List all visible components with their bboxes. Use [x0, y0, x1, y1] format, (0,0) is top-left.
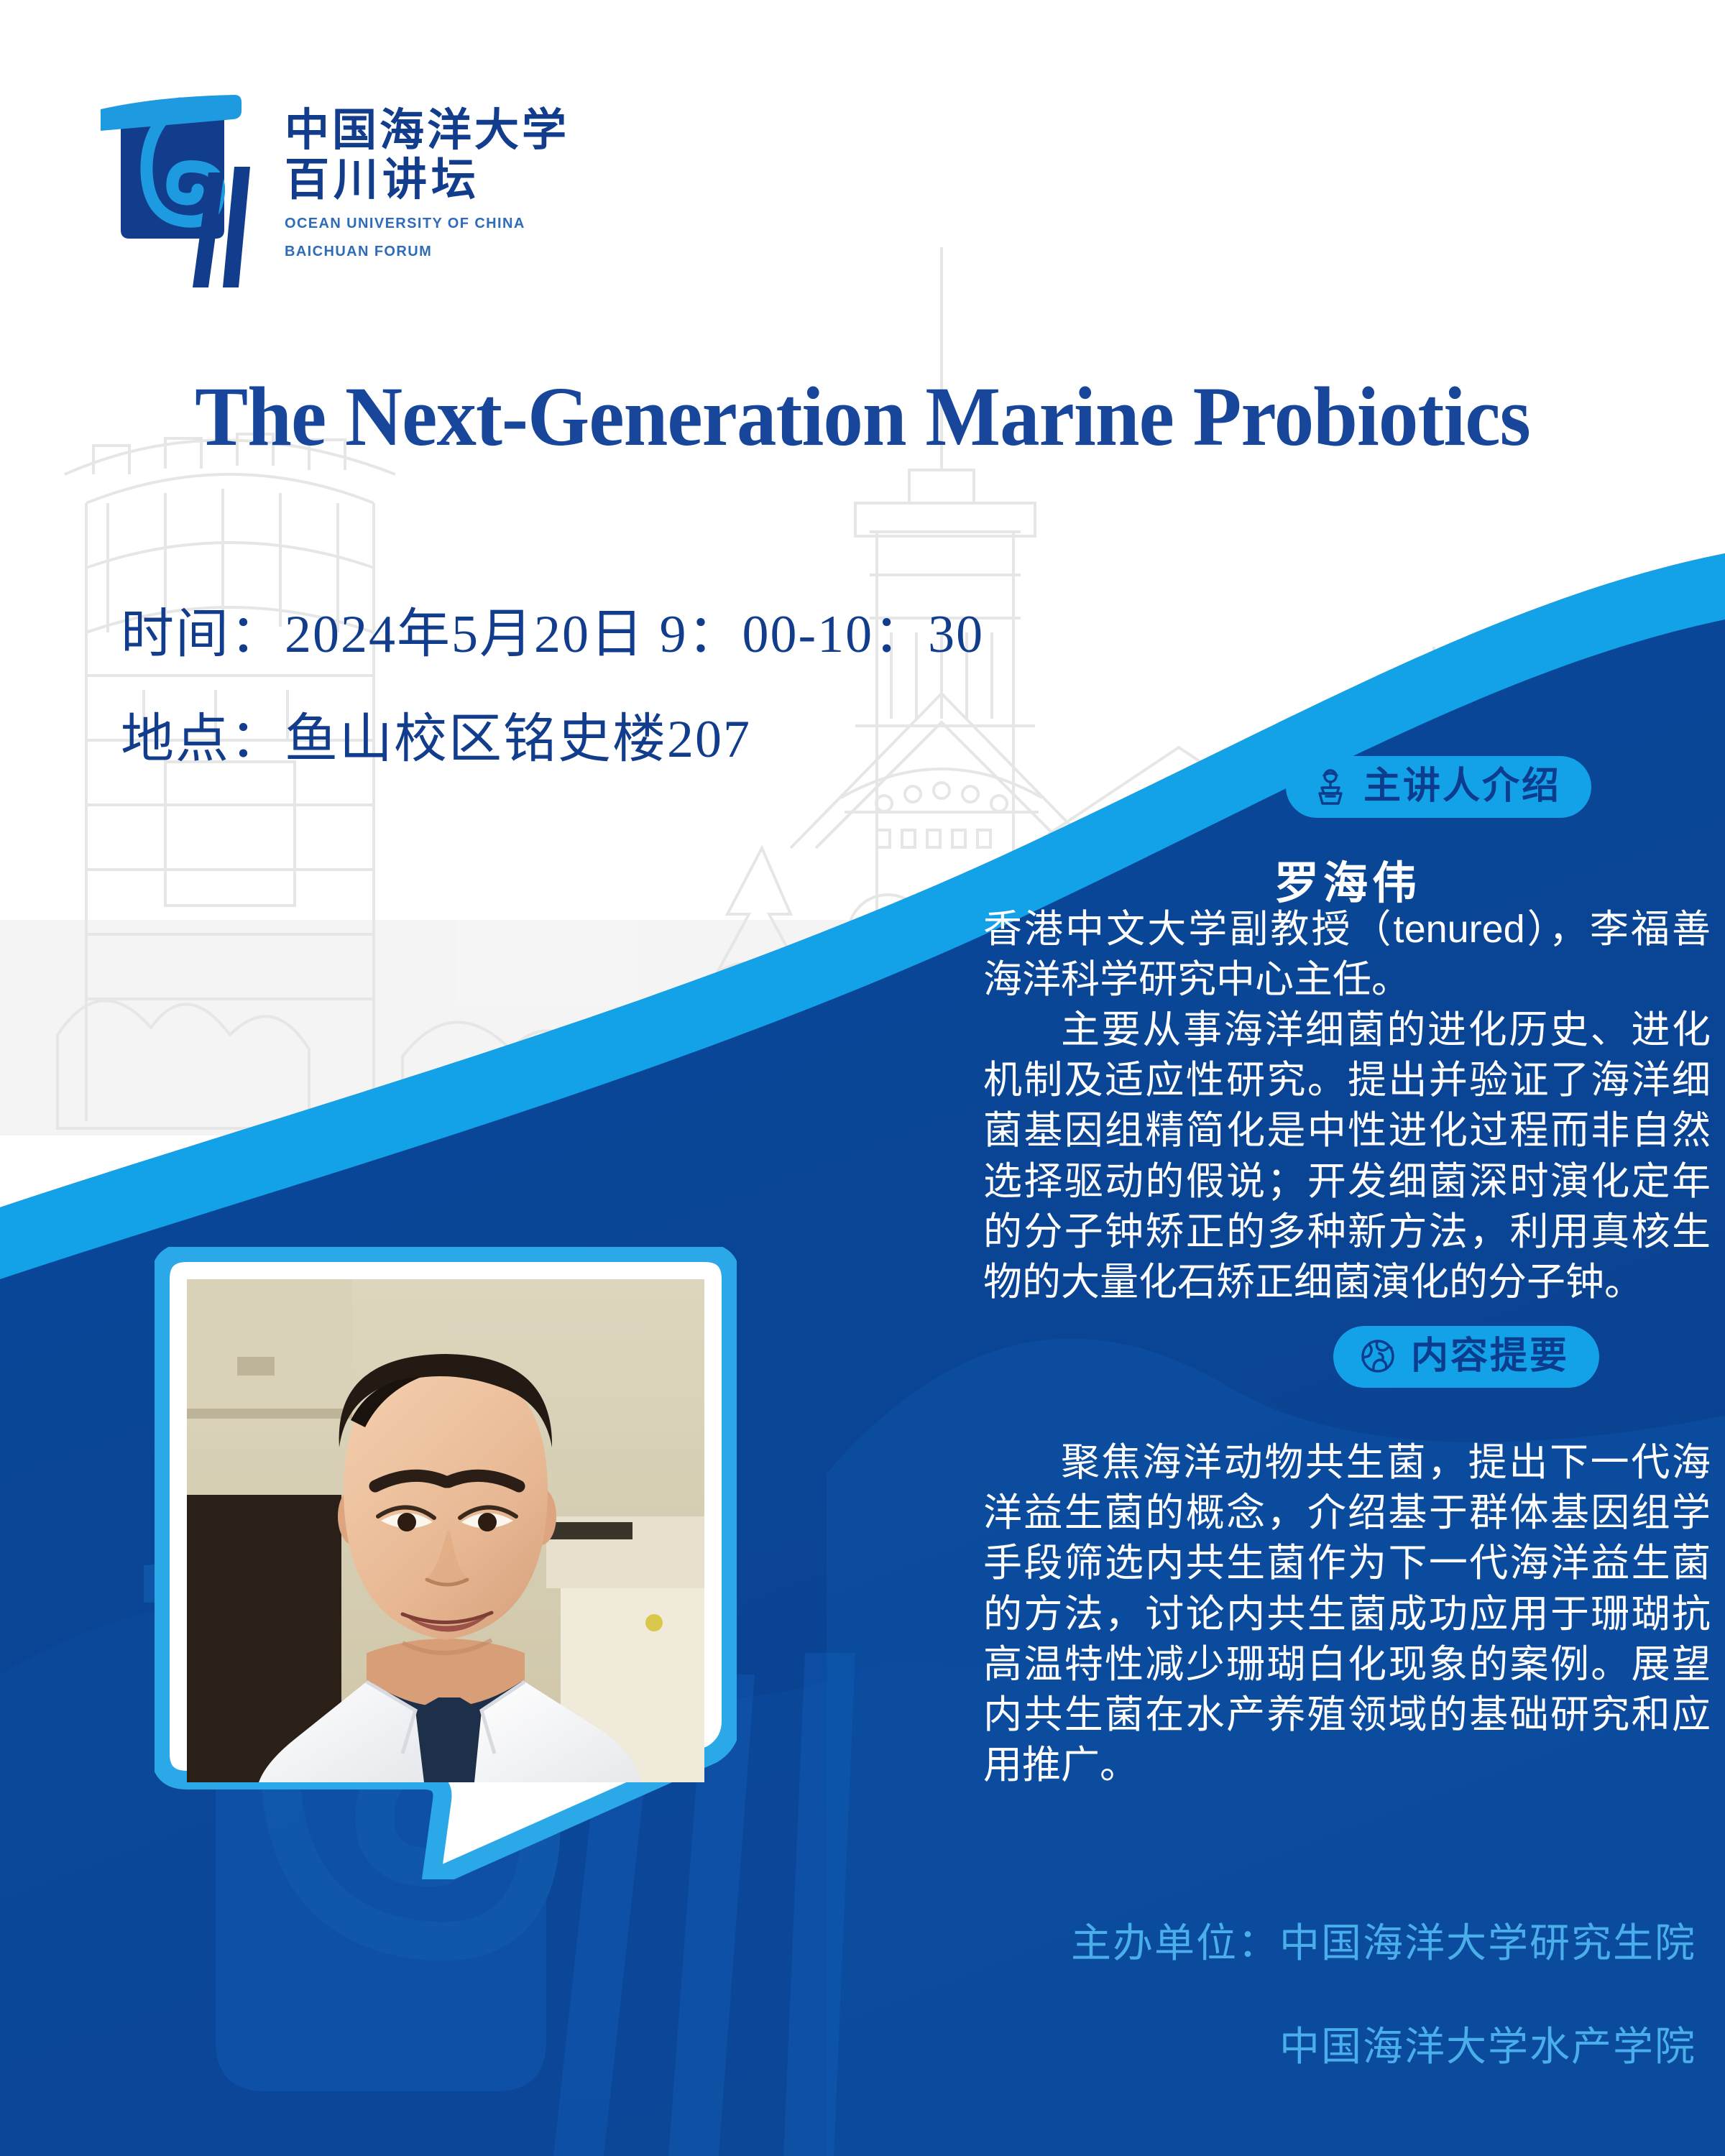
speaker-badge-label: 主讲人介绍	[1363, 768, 1561, 805]
logo-cn-line1: 中国海洋大学	[285, 106, 569, 156]
speaker-photo	[187, 1279, 704, 1782]
logo-cn-line2: 百川讲坛	[285, 156, 569, 206]
speaker-name: 罗海伟	[985, 847, 1711, 911]
organizer-footer: 主办单位：中国海洋大学研究生院 中国海洋大学水产学院	[862, 1923, 1725, 2067]
event-time: 时间：2024年5月20日 9：00-10：30	[121, 608, 984, 661]
organizer-line1: 主办单位：中国海洋大学研究生院	[862, 1923, 1725, 1963]
abstract-section-badge: 内容提要	[1333, 1326, 1599, 1388]
abstract-badge-label: 内容提要	[1411, 1337, 1569, 1375]
speaker-affiliation: 香港中文大学副教授（tenured），李福善海洋科学研究中心主任。	[983, 904, 1711, 1005]
logo-en-line1: OCEAN UNIVERSITY OF CHINA	[285, 213, 569, 234]
speaker-bio: 主要从事海洋细菌的进化历史、进化机制及适应性研究。提出并验证了海洋细菌基因组精简…	[983, 1005, 1711, 1307]
speaker-portrait-image	[187, 1279, 704, 1782]
speaker-podium-icon	[1310, 766, 1351, 806]
poster-root: 中国海洋大学 百川讲坛 OCEAN UNIVERSITY OF CHINA BA…	[0, 0, 1725, 2156]
event-meta: 时间：2024年5月20日 9：00-10：30 地点：鱼山校区铭史楼207	[121, 608, 984, 766]
brand-logo: 中国海洋大学 百川讲坛 OCEAN UNIVERSITY OF CHINA BA…	[93, 86, 569, 291]
poster-title: The Next-Generation Marine Probiotics	[52, 368, 1673, 466]
speaker-photo-bubble	[155, 1247, 737, 1879]
globe-icon	[1358, 1336, 1398, 1376]
abstract-body: 聚焦海洋动物共生菌，提出下一代海洋益生菌的概念，介绍基于群体基因组学手段筛选内共…	[983, 1437, 1711, 1790]
event-place: 地点：鱼山校区铭史楼207	[121, 713, 984, 766]
speaker-section-badge: 主讲人介绍	[1286, 756, 1591, 818]
organizer-line2: 中国海洋大学水产学院	[862, 2027, 1725, 2067]
baichuan-forum-logo-icon	[93, 86, 266, 291]
logo-en-line2: BAICHUAN FORUM	[285, 241, 569, 262]
